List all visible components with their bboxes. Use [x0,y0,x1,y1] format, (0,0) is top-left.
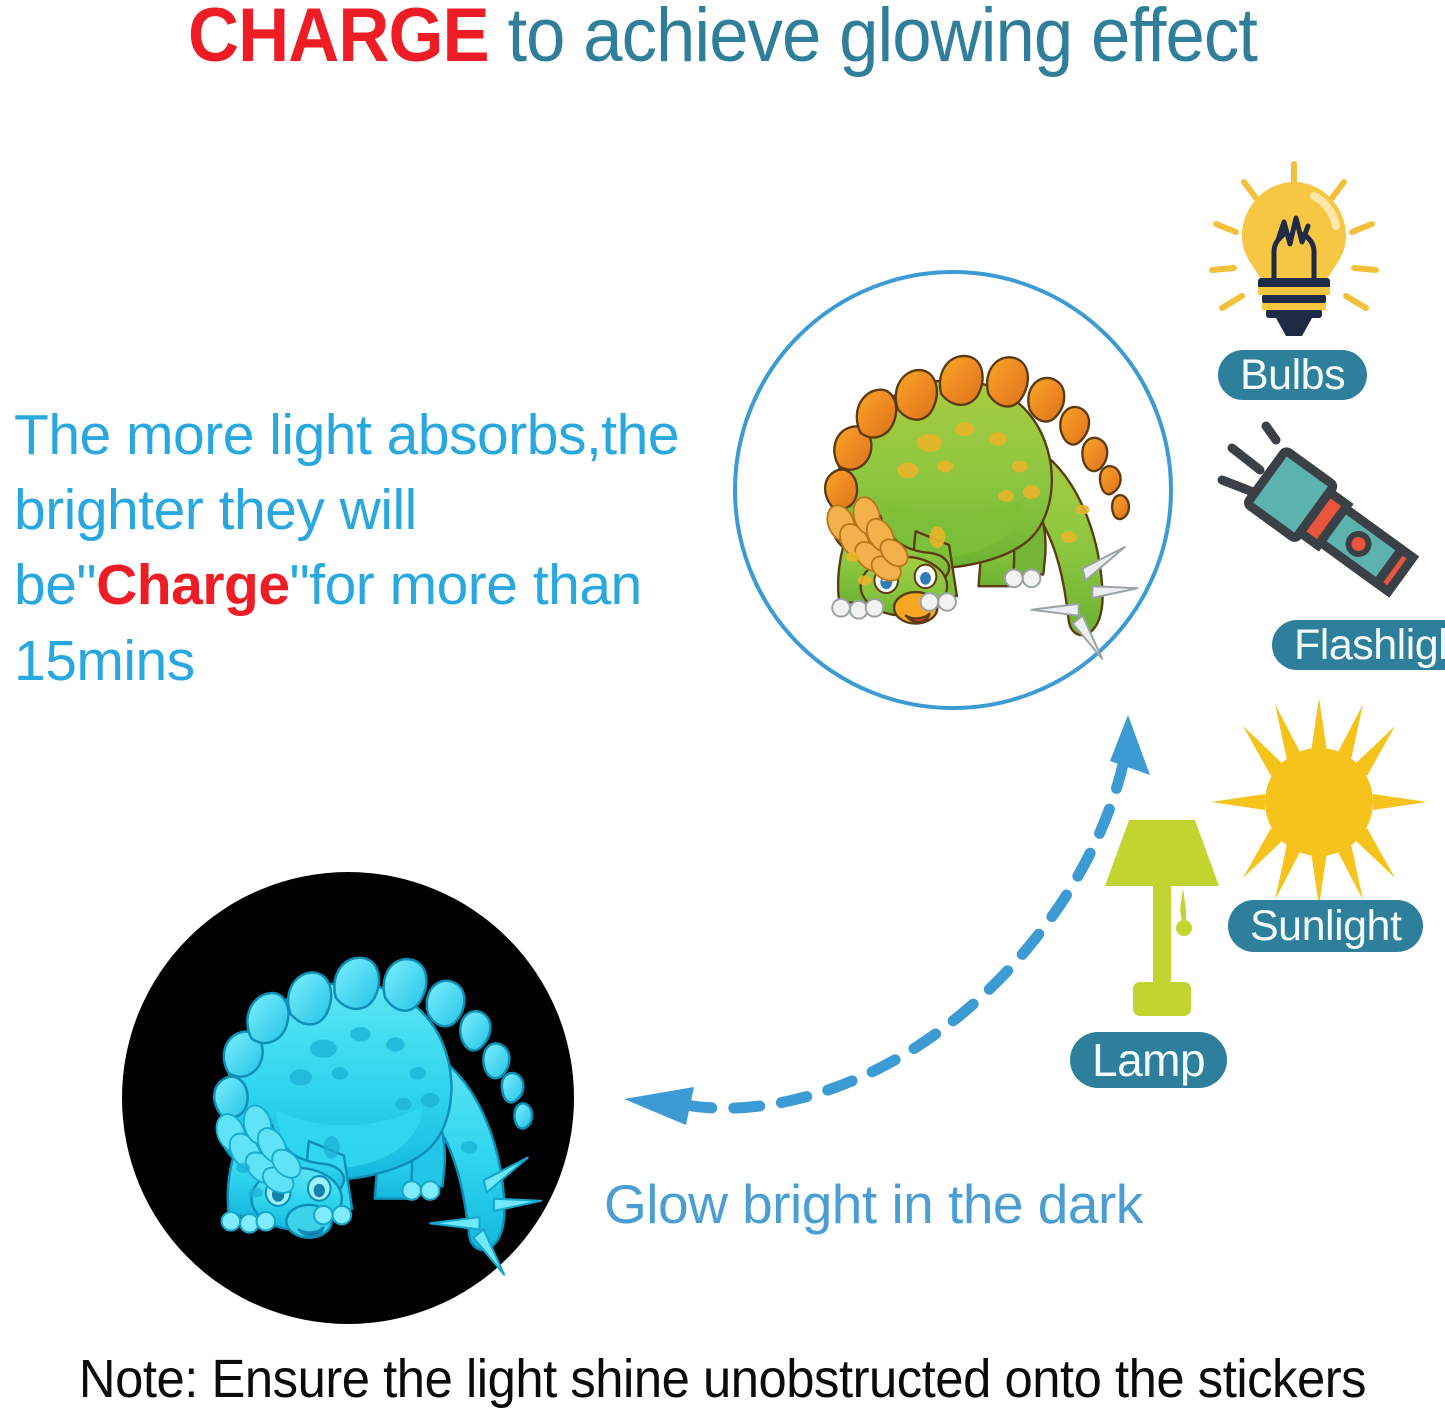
daylight-sticker-circle [733,270,1173,710]
sun-icon [1205,696,1433,908]
lead-paragraph: The more light absorbs,the brighter they… [14,398,754,699]
dinosaur-glow-illustration [122,872,574,1324]
infographic-page: CHARGE to achieve glowing effect The mor… [0,0,1445,1426]
bottom-note: Note: Ensure the light shine unobstructe… [43,1348,1401,1410]
page-title: CHARGE to achieve glowing effect [51,0,1395,76]
light-source-label-sunlight: Sunlight [1228,900,1423,952]
light-source-label-flashlight: Flashlight [1272,620,1445,670]
dinosaur-color-illustration [737,274,1169,706]
lead-highlight: Charge [96,553,289,617]
dark-sticker-circle [122,872,574,1324]
light-source-label-bulbs: Bulbs [1218,350,1367,400]
title-rest: to achieve glowing effect [489,0,1257,78]
bulb-icon [1196,160,1392,346]
title-highlight: CHARGE [188,0,489,78]
glow-caption: Glow bright in the dark [604,1172,1143,1236]
charge-and-glow-cycle-arrow [590,715,1180,1125]
flashlight-icon [1216,414,1444,620]
